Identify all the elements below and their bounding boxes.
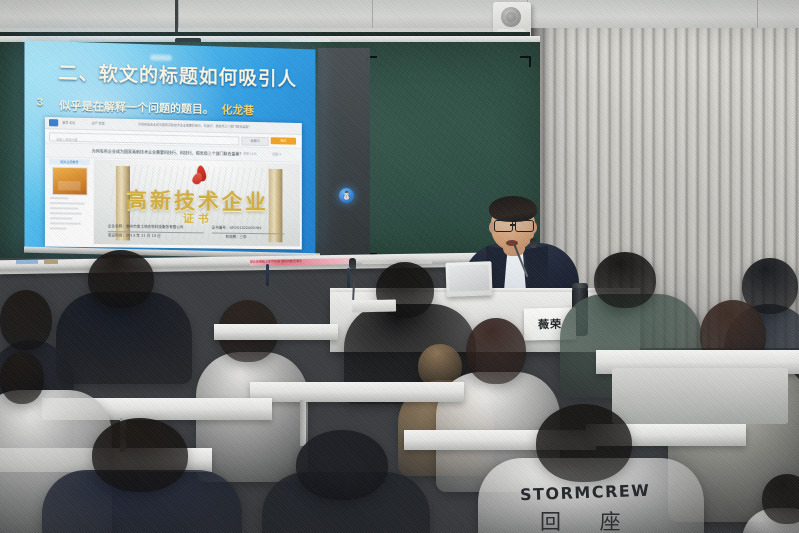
webshot-search-placeholder: 请输入搜索内容 xyxy=(56,137,77,142)
webshot-text-line xyxy=(50,217,72,219)
side-display-panel xyxy=(318,48,370,256)
thumbnail-art xyxy=(58,181,80,190)
eyeglasses-icon xyxy=(494,220,513,232)
microphone-head-icon xyxy=(349,258,356,269)
webshot-text-line xyxy=(50,227,66,229)
chair-back xyxy=(612,368,788,424)
desk-leg xyxy=(300,400,306,446)
pointer-stick xyxy=(266,264,269,286)
tray-item xyxy=(44,260,58,264)
webshot-text-line xyxy=(50,207,78,209)
slide-item-number: 3 xyxy=(37,97,43,109)
high-tech-enterprise-certificate: 高新技术企业 证书 企业名称：常州市金土地农牧科技服务有限公司 证书编号：GR2… xyxy=(94,159,300,246)
microphone-head-icon xyxy=(530,238,537,248)
desk-row-7 xyxy=(214,324,338,340)
classroom-lecture-photo: ⛄ 二、软文的标题如何吸引人 3 似乎是在解释一个问题的题目。 化龙巷 首页 论… xyxy=(0,0,799,533)
webshot-nav-item: 为何有些企业成为国家高新技术企业需要科技行、科技行、税务局三个部门联合盖章？ xyxy=(138,122,251,129)
student-left-black-hair-head xyxy=(0,290,52,350)
webshot-sidebar-header: 相关主题推荐 xyxy=(49,159,90,166)
student-left-white-hoodie-head xyxy=(0,352,44,404)
certificate-company-field: 企业名称：常州市金土地农牧科技服务有限公司 xyxy=(108,224,184,230)
student-dark-coat-on-chair-head xyxy=(296,430,388,500)
tray-item xyxy=(16,260,38,264)
site-logo xyxy=(49,119,58,126)
tray-item xyxy=(362,260,396,265)
webshot-sidebar: 相关主题推荐 xyxy=(49,159,90,244)
video-conference-icon[interactable]: ⛄ xyxy=(339,188,354,203)
article-thumbnail xyxy=(52,167,88,196)
certificate-validity-field: 有效期：三年 xyxy=(226,235,247,240)
webshot-question-title: 为何有些企业成为国家高新技术企业需要科技行、科技行、税务局三个部门联合盖章？ xyxy=(92,148,244,157)
webshot-nav-item: 首页 论坛 xyxy=(62,120,75,124)
slide-webpage-screenshot: 首页 论坛 房产 家居 为何有些企业成为国家高新技术企业需要科技行、科技行、税务… xyxy=(45,117,302,250)
certificate-date-field: 发证时间：2013 年 11 月 13 日 xyxy=(108,233,161,239)
slide-source-tag: 化龙巷 xyxy=(222,101,254,118)
desk-row-1 xyxy=(250,382,464,402)
webshot-submit-button: 提问 xyxy=(271,137,296,144)
board-corner-mark xyxy=(520,56,531,67)
ceiling xyxy=(0,0,799,30)
webshot-nav-item: 房产 家居 xyxy=(92,121,105,125)
certificate-number-field: 证书编号：GR201322009765 xyxy=(212,226,262,232)
webshot-text-line xyxy=(50,212,82,214)
ceiling-seam xyxy=(372,0,373,30)
student-stormcrew-shirt-head xyxy=(536,404,632,482)
student-right-edge-white-head xyxy=(762,474,799,524)
laptop-screen xyxy=(449,264,490,291)
ceiling-seam xyxy=(178,0,179,30)
presenter-laptop xyxy=(445,261,492,297)
projection-screen: 二、软文的标题如何吸引人 3 似乎是在解释一个问题的题目。 化龙巷 首页 论坛 … xyxy=(24,40,315,254)
student-white-top-ponytail-head xyxy=(466,318,526,384)
presenter-mouth xyxy=(506,240,518,246)
webshot-text-line xyxy=(50,222,81,224)
presenter-hair xyxy=(489,196,537,222)
webshot-question-meta: 回复 6 xyxy=(273,152,281,156)
student-laptop xyxy=(352,299,396,312)
flame-emblem-icon xyxy=(192,165,210,185)
ceiling-seam xyxy=(757,0,758,30)
eyeglasses-icon xyxy=(515,220,534,232)
webshot-text-line xyxy=(50,197,68,199)
webshot-question-meta: 浏览 1243 xyxy=(243,151,256,155)
student-back-row-center-navy-head xyxy=(88,250,154,308)
ceiling-post xyxy=(175,0,178,36)
webshot-ask-button: 我要问 xyxy=(241,137,268,147)
student-green-shirt-back-head xyxy=(594,252,656,308)
eyeglasses-bridge xyxy=(510,224,516,226)
student-navy-hoodie-front-head xyxy=(92,418,188,492)
webshot-text-line xyxy=(50,202,85,205)
speaker-grill-icon xyxy=(501,7,521,27)
stormcrew-shirt-glyph: 回 座 xyxy=(540,506,637,533)
video-conference-glyph: ⛄ xyxy=(339,188,354,203)
